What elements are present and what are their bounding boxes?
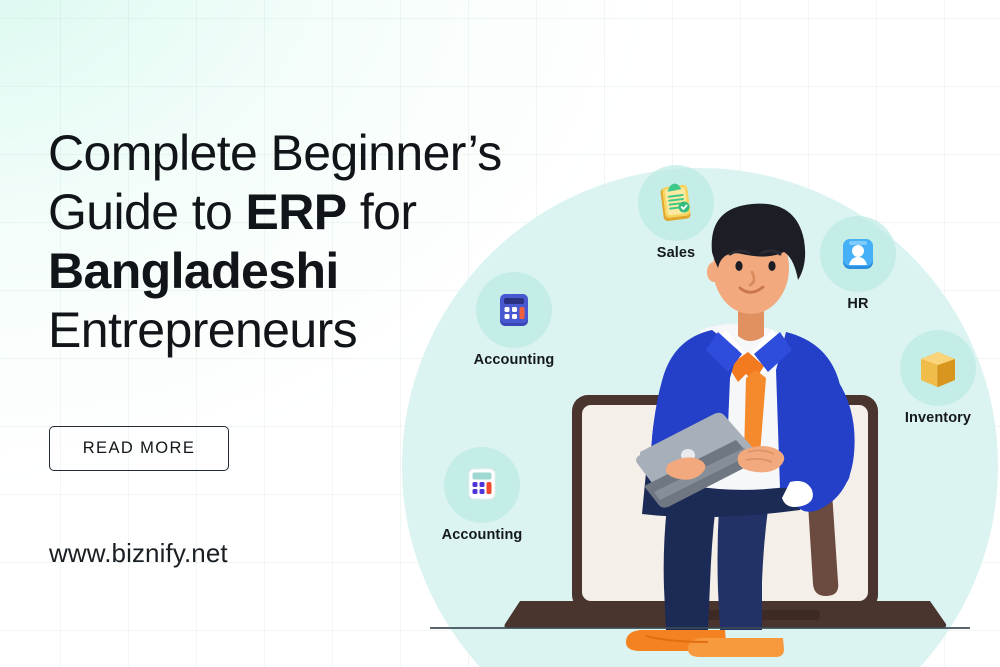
website-url: www.biznify.net <box>49 538 228 569</box>
calculator-white-icon <box>460 463 504 507</box>
module-accounting-1[interactable]: Accounting <box>466 272 562 368</box>
module-halo <box>444 447 520 523</box>
clipboard-check-icon <box>653 180 699 226</box>
module-halo <box>638 165 714 241</box>
calculator-blue-icon <box>492 288 536 332</box>
headline-line-1: Complete Beginner’s <box>48 124 608 183</box>
box-icon <box>914 346 962 390</box>
module-sales[interactable]: Sales <box>628 165 724 261</box>
module-accounting-2[interactable]: Accounting <box>434 447 530 543</box>
read-more-button[interactable]: READ MORE <box>49 426 229 471</box>
module-halo <box>476 272 552 348</box>
module-inventory[interactable]: Inventory <box>890 330 986 426</box>
module-halo <box>820 216 896 292</box>
shoes <box>626 630 784 657</box>
module-halo <box>900 330 976 406</box>
module-label: Inventory <box>890 410 986 426</box>
ground-line <box>430 627 970 629</box>
module-label: HR <box>810 296 906 312</box>
module-label: Accounting <box>434 527 530 543</box>
headline-line-2: Guide to ERP for <box>48 183 608 242</box>
module-label: Accounting <box>466 352 562 368</box>
promo-banner: Complete Beginner’s Guide to ERP for Ban… <box>0 0 1000 667</box>
module-hr[interactable]: HR <box>810 216 906 312</box>
module-label: Sales <box>628 245 724 261</box>
person-card-icon <box>836 232 880 276</box>
